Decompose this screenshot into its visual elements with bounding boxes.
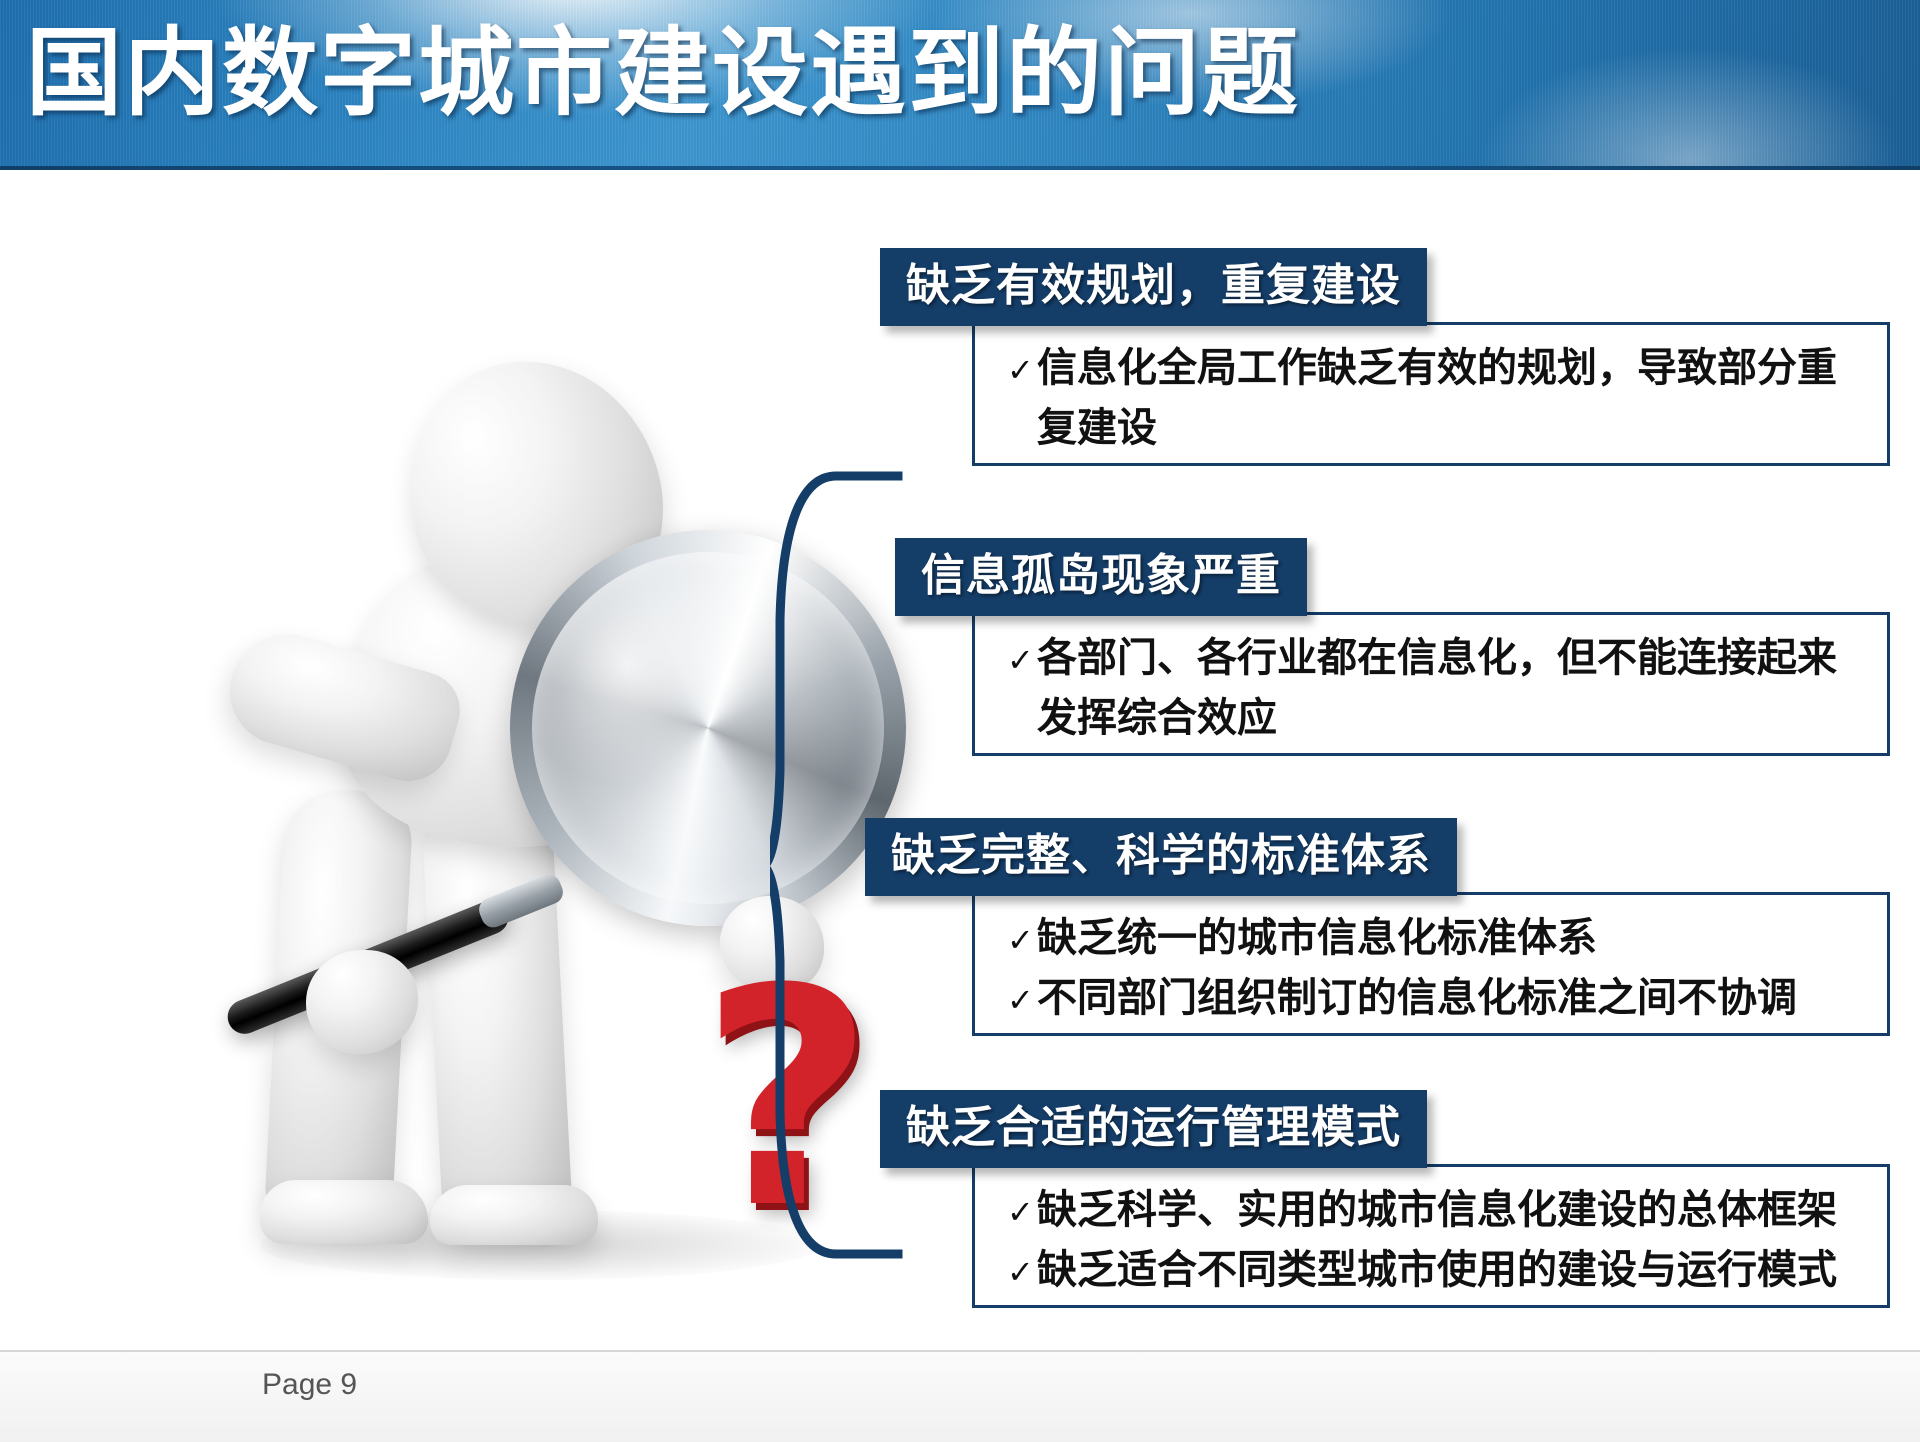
slide-footer: Page 9 xyxy=(0,1350,1920,1442)
bullet-text: 不同部门组织制订的信息化标准之间不协调 xyxy=(1037,969,1797,1027)
content-box-4: ✓ 缺乏科学、实用的城市信息化建设的总体框架 ✓ 缺乏适合不同类型城市使用的建设… xyxy=(880,1090,1890,1308)
bullet-item: ✓ 缺乏统一的城市信息化标准体系 xyxy=(1007,909,1797,969)
illustration-3d-figure: ? xyxy=(110,250,870,1250)
check-icon: ✓ xyxy=(1007,631,1037,689)
check-icon: ✓ xyxy=(1007,911,1037,969)
bullet-text: 发挥综合效应 xyxy=(1037,689,1277,747)
content-box-3: ✓ 缺乏统一的城市信息化标准体系 ✓ 不同部门组织制订的信息化标准之间不协调 缺… xyxy=(865,818,1890,1036)
check-icon: ✓ xyxy=(1007,341,1037,399)
check-icon: ✓ xyxy=(1007,1243,1037,1301)
content-box-2-bullets: ✓ 各部门、各行业都在信息化，但不能连接起来 ✓ 发挥综合效应 xyxy=(1007,629,1837,749)
content-box-2-body: ✓ 各部门、各行业都在信息化，但不能连接起来 ✓ 发挥综合效应 xyxy=(972,612,1890,756)
bullet-item-continuation: ✓ 发挥综合效应 xyxy=(1007,689,1837,749)
bullet-item-continuation: ✓ 复建设 xyxy=(1007,399,1837,459)
slide-title-bar: 国内数字城市建设遇到的问题 xyxy=(0,0,1920,168)
content-box-4-bullets: ✓ 缺乏科学、实用的城市信息化建设的总体框架 ✓ 缺乏适合不同类型城市使用的建设… xyxy=(1007,1181,1837,1301)
content-box-3-bullets: ✓ 缺乏统一的城市信息化标准体系 ✓ 不同部门组织制订的信息化标准之间不协调 xyxy=(1007,909,1797,1029)
check-icon: ✓ xyxy=(1007,1183,1037,1241)
figure-foot-right xyxy=(430,1185,598,1245)
figure-leg-right xyxy=(421,792,573,1228)
check-icon: ✓ xyxy=(1007,971,1037,1029)
slide-canvas: ? ✓ 信息化全局工作缺乏有效的规划，导致部分重 ✓ 复建设 缺乏有效规划，重复… xyxy=(0,170,1920,1350)
content-box-1-bullets: ✓ 信息化全局工作缺乏有效的规划，导致部分重 ✓ 复建设 xyxy=(1007,339,1837,459)
content-box-1-header[interactable]: 缺乏有效规划，重复建设 xyxy=(880,248,1427,326)
content-box-3-body: ✓ 缺乏统一的城市信息化标准体系 ✓ 不同部门组织制订的信息化标准之间不协调 xyxy=(972,892,1890,1036)
bullet-item: ✓ 各部门、各行业都在信息化，但不能连接起来 xyxy=(1007,629,1837,689)
figure-foot-left xyxy=(260,1180,428,1244)
bullet-text: 缺乏科学、实用的城市信息化建设的总体框架 xyxy=(1037,1181,1837,1239)
content-box-3-header[interactable]: 缺乏完整、科学的标准体系 xyxy=(865,818,1457,896)
bullet-text: 缺乏统一的城市信息化标准体系 xyxy=(1037,909,1597,967)
bullet-item: ✓ 信息化全局工作缺乏有效的规划，导致部分重 xyxy=(1007,339,1837,399)
page-number: Page 9 xyxy=(262,1368,357,1402)
content-box-2-header[interactable]: 信息孤岛现象严重 xyxy=(895,538,1307,616)
page-title: 国内数字城市建设遇到的问题 xyxy=(26,14,1300,132)
content-box-1: ✓ 信息化全局工作缺乏有效的规划，导致部分重 ✓ 复建设 缺乏有效规划，重复建设 xyxy=(880,248,1890,466)
bullet-item: ✓ 不同部门组织制订的信息化标准之间不协调 xyxy=(1007,969,1797,1029)
content-box-4-body: ✓ 缺乏科学、实用的城市信息化建设的总体框架 ✓ 缺乏适合不同类型城市使用的建设… xyxy=(972,1164,1890,1308)
content-box-4-header[interactable]: 缺乏合适的运行管理模式 xyxy=(880,1090,1427,1168)
bullet-text: 信息化全局工作缺乏有效的规划，导致部分重 xyxy=(1037,339,1837,397)
content-box-2: ✓ 各部门、各行业都在信息化，但不能连接起来 ✓ 发挥综合效应 信息孤岛现象严重 xyxy=(895,538,1890,756)
content-box-1-body: ✓ 信息化全局工作缺乏有效的规划，导致部分重 ✓ 复建设 xyxy=(972,322,1890,466)
bullet-text: 缺乏适合不同类型城市使用的建设与运行模式 xyxy=(1037,1241,1837,1299)
bullet-item: ✓ 缺乏适合不同类型城市使用的建设与运行模式 xyxy=(1007,1241,1837,1301)
bullet-text: 复建设 xyxy=(1037,399,1157,457)
bullet-text: 各部门、各行业都在信息化，但不能连接起来 xyxy=(1037,629,1837,687)
bullet-item: ✓ 缺乏科学、实用的城市信息化建设的总体框架 xyxy=(1007,1181,1837,1241)
